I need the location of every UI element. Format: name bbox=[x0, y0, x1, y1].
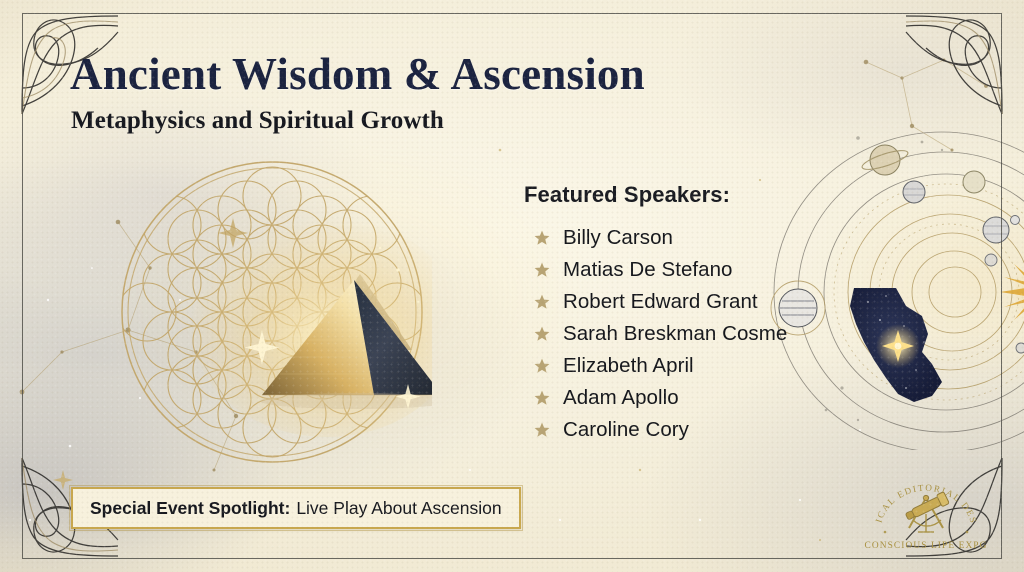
speaker-name: Elizabeth April bbox=[563, 354, 694, 378]
speaker-list-item: Sarah Breskman Cosme bbox=[534, 318, 854, 349]
speaker-name: Caroline Cory bbox=[563, 418, 689, 442]
star-icon bbox=[534, 326, 550, 342]
page-title: Ancient Wisdom & Ascension bbox=[70, 48, 645, 100]
speaker-name: Robert Edward Grant bbox=[563, 290, 758, 314]
star-icon bbox=[534, 294, 550, 310]
speaker-list-item: Adam Apollo bbox=[534, 382, 854, 413]
speaker-list-item: Caroline Cory bbox=[534, 414, 854, 445]
featured-speakers-section: Featured Speakers: Billy CarsonMatias De… bbox=[524, 182, 854, 446]
speaker-name: Sarah Breskman Cosme bbox=[563, 322, 787, 346]
speaker-list-item: Robert Edward Grant bbox=[534, 286, 854, 317]
speaker-name: Billy Carson bbox=[563, 226, 673, 250]
speaker-list-item: Billy Carson bbox=[534, 222, 854, 253]
speaker-name: Adam Apollo bbox=[563, 386, 679, 410]
speaker-list: Billy CarsonMatias De StefanoRobert Edwa… bbox=[524, 222, 854, 445]
special-event-spotlight-banner: Special Event Spotlight: Live Play About… bbox=[71, 487, 521, 529]
speaker-list-item: Elizabeth April bbox=[534, 350, 854, 381]
speaker-list-item: Matias De Stefano bbox=[534, 254, 854, 285]
star-icon bbox=[534, 230, 550, 246]
page-subtitle: Metaphysics and Spiritual Growth bbox=[71, 107, 444, 135]
spotlight-label: Special Event Spotlight: bbox=[90, 498, 290, 519]
featured-speakers-heading: Featured Speakers: bbox=[524, 182, 854, 208]
spotlight-text: Live Play About Ascension bbox=[296, 498, 501, 519]
star-icon bbox=[534, 390, 550, 406]
star-icon bbox=[534, 262, 550, 278]
speaker-name: Matias De Stefano bbox=[563, 258, 733, 282]
star-icon bbox=[534, 422, 550, 438]
star-icon bbox=[534, 358, 550, 374]
